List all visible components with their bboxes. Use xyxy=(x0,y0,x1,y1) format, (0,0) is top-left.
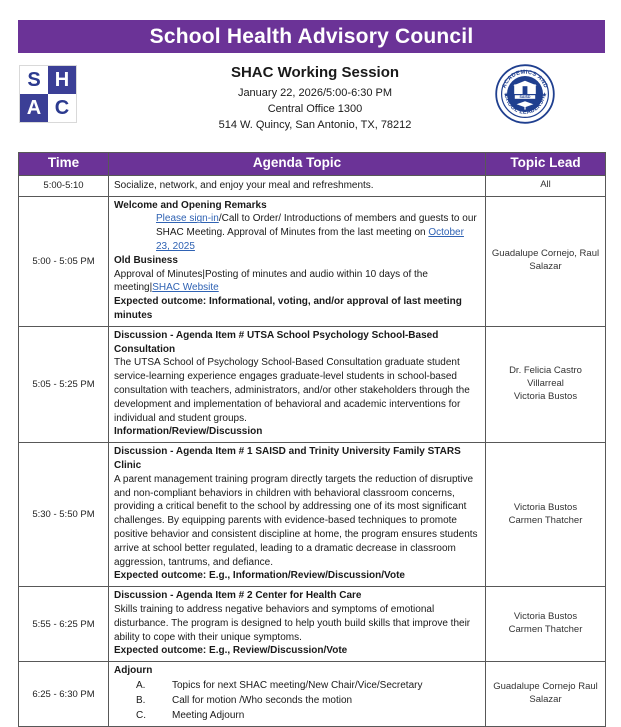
row-topic: Welcome and Opening Remarks Please sign-… xyxy=(109,196,486,326)
list-item-label: Topics for next SHAC meeting/New Chair/V… xyxy=(172,678,480,693)
topic-heading-welcome: Welcome and Opening Remarks xyxy=(114,199,480,213)
table-row: 5:00-5:10 Socialize, network, and enjoy … xyxy=(19,175,606,196)
table-row: 5:00 - 5:05 PM Welcome and Opening Remar… xyxy=(19,196,606,326)
topic-heading-family-stars: Discussion - Agenda Item # 1 SAISD and T… xyxy=(114,445,480,473)
meeting-info: SHAC Working Session January 22, 2026/5:… xyxy=(150,64,480,134)
list-item: A. Topics for next SHAC meeting/New Chai… xyxy=(114,678,480,693)
row-lead: All xyxy=(486,175,606,196)
row-topic: Adjourn A. Topics for next SHAC meeting/… xyxy=(109,662,486,727)
svg-text:★: ★ xyxy=(542,91,547,98)
row-topic: Socialize, network, and enjoy your meal … xyxy=(109,175,486,196)
row-time: 5:05 - 5:25 PM xyxy=(19,326,109,442)
topic-text: Socialize, network, and enjoy your meal … xyxy=(114,180,374,191)
row-lead: Victoria BustosCarmen Thatcher xyxy=(486,587,606,662)
topic-heading-adjourn: Adjourn xyxy=(114,664,480,678)
row-topic: Discussion - Agenda Item # 2 Center for … xyxy=(109,587,486,662)
column-header-time: Time xyxy=(19,153,109,176)
list-item-label: Call for motion /Who seconds the motion xyxy=(172,693,480,708)
meeting-location: Central Office 1300 xyxy=(150,102,480,118)
saisd-seal-icon: ACADEMICS AND SCHOOL LEADERSHIP ★ ★ SAIS… xyxy=(495,64,555,124)
row-time: 5:30 - 5:50 PM xyxy=(19,443,109,587)
table-row: 5:30 - 5:50 PM Discussion - Agenda Item … xyxy=(19,443,606,587)
row-lead: Guadalupe Cornejo, Raul Salazar xyxy=(486,196,606,326)
row-topic: Discussion - Agenda Item # 1 SAISD and T… xyxy=(109,443,486,587)
svg-text:SAISD: SAISD xyxy=(520,95,531,99)
topic-paragraph-welcome: Please sign-in/Call to Order/ Introducti… xyxy=(114,212,480,253)
shac-website-link[interactable]: SHAC Website xyxy=(152,282,219,293)
row-lead: Guadalupe Cornejo Raul Salazar xyxy=(486,662,606,727)
page-banner: School Health Advisory Council xyxy=(18,20,605,53)
please-sign-in-link[interactable]: Please sign-in xyxy=(156,213,219,224)
topic-expected-outcome: Expected outcome: Informational, voting,… xyxy=(114,295,480,323)
topic-expected-outcome: Expected outcome: E.g., Review/Discussio… xyxy=(114,644,480,658)
shac-logo-letter-s: S xyxy=(20,66,48,94)
masthead: S H A C SHAC Working Session January 22,… xyxy=(0,56,621,144)
page-title: School Health Advisory Council xyxy=(150,26,474,47)
list-item-letter: B. xyxy=(114,693,172,708)
topic-heading-utsa: Discussion - Agenda Item # UTSA School P… xyxy=(114,329,480,357)
row-topic: Discussion - Agenda Item # UTSA School P… xyxy=(109,326,486,442)
table-row: 6:25 - 6:30 PM Adjourn A. Topics for nex… xyxy=(19,662,606,727)
topic-expected-outcome: Expected outcome: E.g., Information/Revi… xyxy=(114,569,480,583)
topic-paragraph-old-business: Approval of Minutes|Posting of minutes a… xyxy=(114,268,480,296)
list-item-label: Meeting Adjourn xyxy=(172,708,480,723)
shac-logo-letter-h: H xyxy=(48,66,76,94)
table-row: 5:05 - 5:25 PM Discussion - Agenda Item … xyxy=(19,326,606,442)
row-lead: Dr. Felicia Castro VillarrealVictoria Bu… xyxy=(486,326,606,442)
row-time: 5:00 - 5:05 PM xyxy=(19,196,109,326)
topic-paragraph-utsa: The UTSA School of Psychology School-Bas… xyxy=(114,356,480,425)
adjourn-item-list: A. Topics for next SHAC meeting/New Chai… xyxy=(114,678,480,723)
column-header-topic-lead: Topic Lead xyxy=(486,153,606,176)
row-time: 6:25 - 6:30 PM xyxy=(19,662,109,727)
table-header-row: Time Agenda Topic Topic Lead xyxy=(19,153,606,176)
list-item-letter: C. xyxy=(114,708,172,723)
column-header-agenda-topic: Agenda Topic xyxy=(109,153,486,176)
topic-paragraph-family-stars: A parent management training program dir… xyxy=(114,473,480,570)
row-time: 5:55 - 6:25 PM xyxy=(19,587,109,662)
meeting-date-time: January 22, 2026/5:00-6:30 PM xyxy=(150,86,480,102)
list-item-letter: A. xyxy=(114,678,172,693)
shac-logo-letter-c: C xyxy=(48,94,76,122)
shac-logo: S H A C xyxy=(19,65,77,123)
table-row: 5:55 - 6:25 PM Discussion - Agenda Item … xyxy=(19,587,606,662)
svg-text:★: ★ xyxy=(503,91,508,98)
topic-heading-old-business: Old Business xyxy=(114,254,480,268)
shac-logo-letter-a: A xyxy=(20,94,48,122)
row-time: 5:00-5:10 xyxy=(19,175,109,196)
agenda-document: School Health Advisory Council S H A C S… xyxy=(0,0,621,719)
agenda-table: Time Agenda Topic Topic Lead 5:00-5:10 S… xyxy=(18,152,606,727)
topic-heading-health-care: Discussion - Agenda Item # 2 Center for … xyxy=(114,589,480,603)
list-item: B. Call for motion /Who seconds the moti… xyxy=(114,693,480,708)
meeting-title: SHAC Working Session xyxy=(150,64,480,82)
row-lead: Victoria BustosCarmen Thatcher xyxy=(486,443,606,587)
meeting-address: 514 W. Quincy, San Antonio, TX, 78212 xyxy=(150,118,480,134)
list-item: C. Meeting Adjourn xyxy=(114,708,480,723)
topic-expected-outcome: Information/Review/Discussion xyxy=(114,425,480,439)
topic-paragraph-health-care: Skills training to address negative beha… xyxy=(114,603,480,644)
